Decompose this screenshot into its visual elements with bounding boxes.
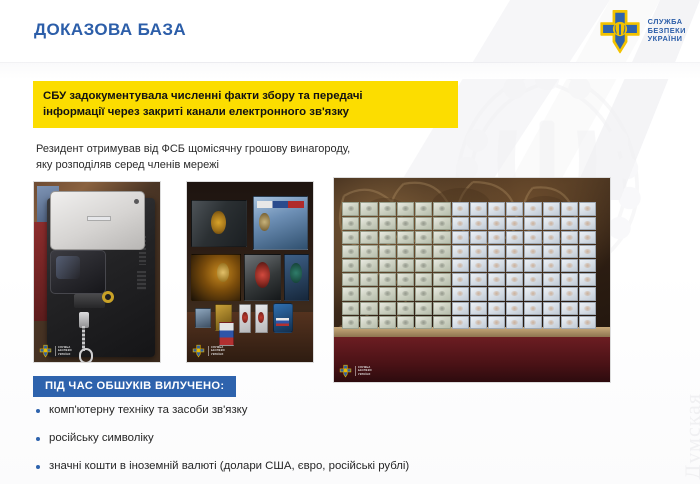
logo-line-3: УКРАЇНИ [648, 35, 686, 44]
list-item-label: значні кошти в іноземній валюті (долари … [49, 459, 409, 474]
seized-items-list: комп'ютерну техніку та засоби зв'язку ро… [36, 403, 576, 484]
sbu-cross-trident-icon [339, 364, 352, 378]
side-watermark: Думская [680, 393, 700, 480]
photo-cash-scene [334, 178, 610, 382]
sbu-cross-trident-icon [192, 344, 205, 358]
bullet-dot-icon [36, 465, 40, 469]
sbu-logo: СЛУЖБА БЕЗПЕКИ УКРАЇНИ [598, 8, 686, 54]
lead-line-1: Резидент отримував від ФСБ щомісячну гро… [36, 141, 476, 157]
lead-paragraph: Резидент отримував від ФСБ щомісячну гро… [36, 141, 476, 173]
sbu-photo-watermark: СЛУЖБА БЕЗПЕКИ УКРАЇНИ [192, 344, 225, 358]
photo-devices[interactable]: СЛУЖБА БЕЗПЕКИ УКРАЇНИ [33, 181, 161, 363]
photo-cash[interactable]: СЛУЖБА БЕЗПЕКИ УКРАЇНИ [333, 177, 611, 383]
yellow-highlight-banner: СБУ задокументувала численні факти збору… [33, 81, 458, 128]
bullet-dot-icon [36, 437, 40, 441]
yellow-banner-line-2: інформації через закриті канали електрон… [43, 104, 448, 120]
photo-symbols[interactable]: СЛУЖБА БЕЗПЕКИ УКРАЇНИ [186, 181, 314, 363]
sbu-photo-watermark: СЛУЖБА БЕЗПЕКИ УКРАЇНИ [339, 364, 372, 378]
sbu-logo-text: СЛУЖБА БЕЗПЕКИ УКРАЇНИ [648, 18, 686, 44]
list-item-label: комп'ютерну техніку та засоби зв'язку [49, 403, 248, 418]
yellow-banner-line-1: СБУ задокументувала численні факти збору… [43, 88, 448, 104]
watermark-line-3: УКРАЇНИ [58, 353, 72, 356]
watermark-line-3: УКРАЇНИ [211, 353, 225, 356]
slide-header: ДОКАЗОВА БАЗА СЛУЖБА БЕЗПЕКИ УКРАЇНИ [0, 0, 700, 62]
blue-banner-text: ПІД ЧАС ОБШУКІВ ВИЛУЧЕНО: [45, 380, 224, 392]
photo-symbols-scene [187, 182, 313, 362]
header-shadow-band [0, 63, 700, 79]
sbu-cross-trident-icon [39, 344, 52, 358]
photo-devices-scene [34, 182, 160, 362]
list-item-label: російську символіку [49, 431, 154, 446]
list-item: значні кошти в іноземній валюті (долари … [36, 459, 576, 474]
slide-root: Думская ДОКАЗОВА БАЗА СЛУЖБА БЕЗПЕ [0, 0, 700, 484]
blue-section-banner: ПІД ЧАС ОБШУКІВ ВИЛУЧЕНО: [33, 376, 236, 397]
banknote-grid [342, 202, 596, 328]
bullet-dot-icon [36, 409, 40, 413]
list-item: російську символіку [36, 431, 576, 446]
list-item: комп'ютерну техніку та засоби зв'язку [36, 403, 576, 418]
page-title: ДОКАЗОВА БАЗА [34, 20, 186, 40]
sbu-cross-trident-icon [598, 8, 642, 54]
watermark-line-3: УКРАЇНИ [358, 373, 372, 376]
sbu-photo-watermark: СЛУЖБА БЕЗПЕКИ УКРАЇНИ [39, 344, 72, 358]
lead-line-2: яку розподіляв серед членів мережі [36, 157, 476, 173]
